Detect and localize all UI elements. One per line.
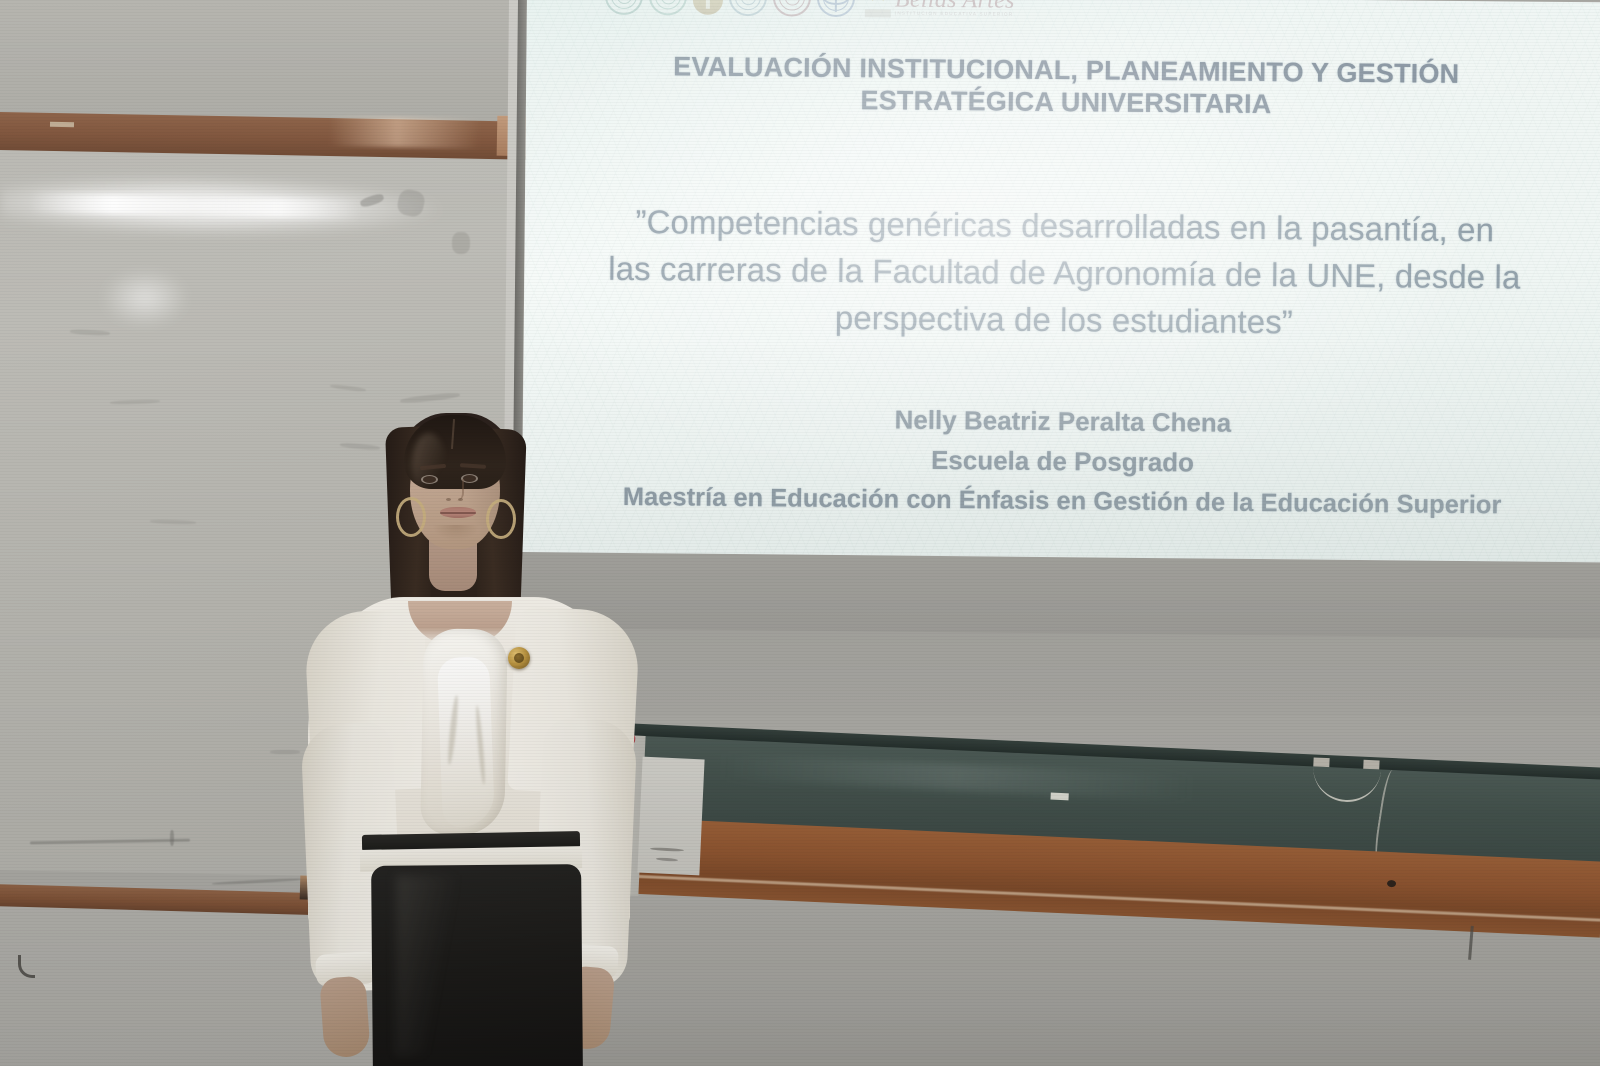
wall-lower-left xyxy=(0,896,330,1066)
projection-screen: ESCUELA SUPERIOR DE Bellas Artes INSTITU… xyxy=(522,0,1600,562)
marker-residue xyxy=(452,232,470,254)
marker-residue xyxy=(212,878,302,886)
whiteboard-glare-spot xyxy=(100,268,190,328)
hoop-earring-left xyxy=(396,497,426,537)
nostril-left xyxy=(446,498,451,501)
gold-brooch xyxy=(508,647,530,669)
presenter xyxy=(300,405,640,1066)
screen-lower-wall xyxy=(514,548,1600,639)
wood-rail-highlight xyxy=(329,116,480,149)
skirt-highlight xyxy=(396,875,456,1055)
photo-scene: 1.50 ESCUELA S xyxy=(0,0,1600,1066)
marker-residue xyxy=(170,830,174,846)
marker-residue xyxy=(270,750,300,754)
screen-vignette xyxy=(522,0,1600,562)
chin-shadow xyxy=(432,525,480,541)
blouse-ruffle-fold xyxy=(437,656,495,828)
chalkboard xyxy=(588,690,1600,996)
nostril-right xyxy=(458,498,463,501)
lip-line xyxy=(440,512,476,514)
hand-left xyxy=(319,975,370,1058)
rail-label-tag xyxy=(50,122,74,127)
hoop-earring-right xyxy=(486,499,516,539)
chalk-piece xyxy=(1050,793,1068,801)
eye-left xyxy=(423,476,436,483)
eye-right xyxy=(463,475,476,482)
